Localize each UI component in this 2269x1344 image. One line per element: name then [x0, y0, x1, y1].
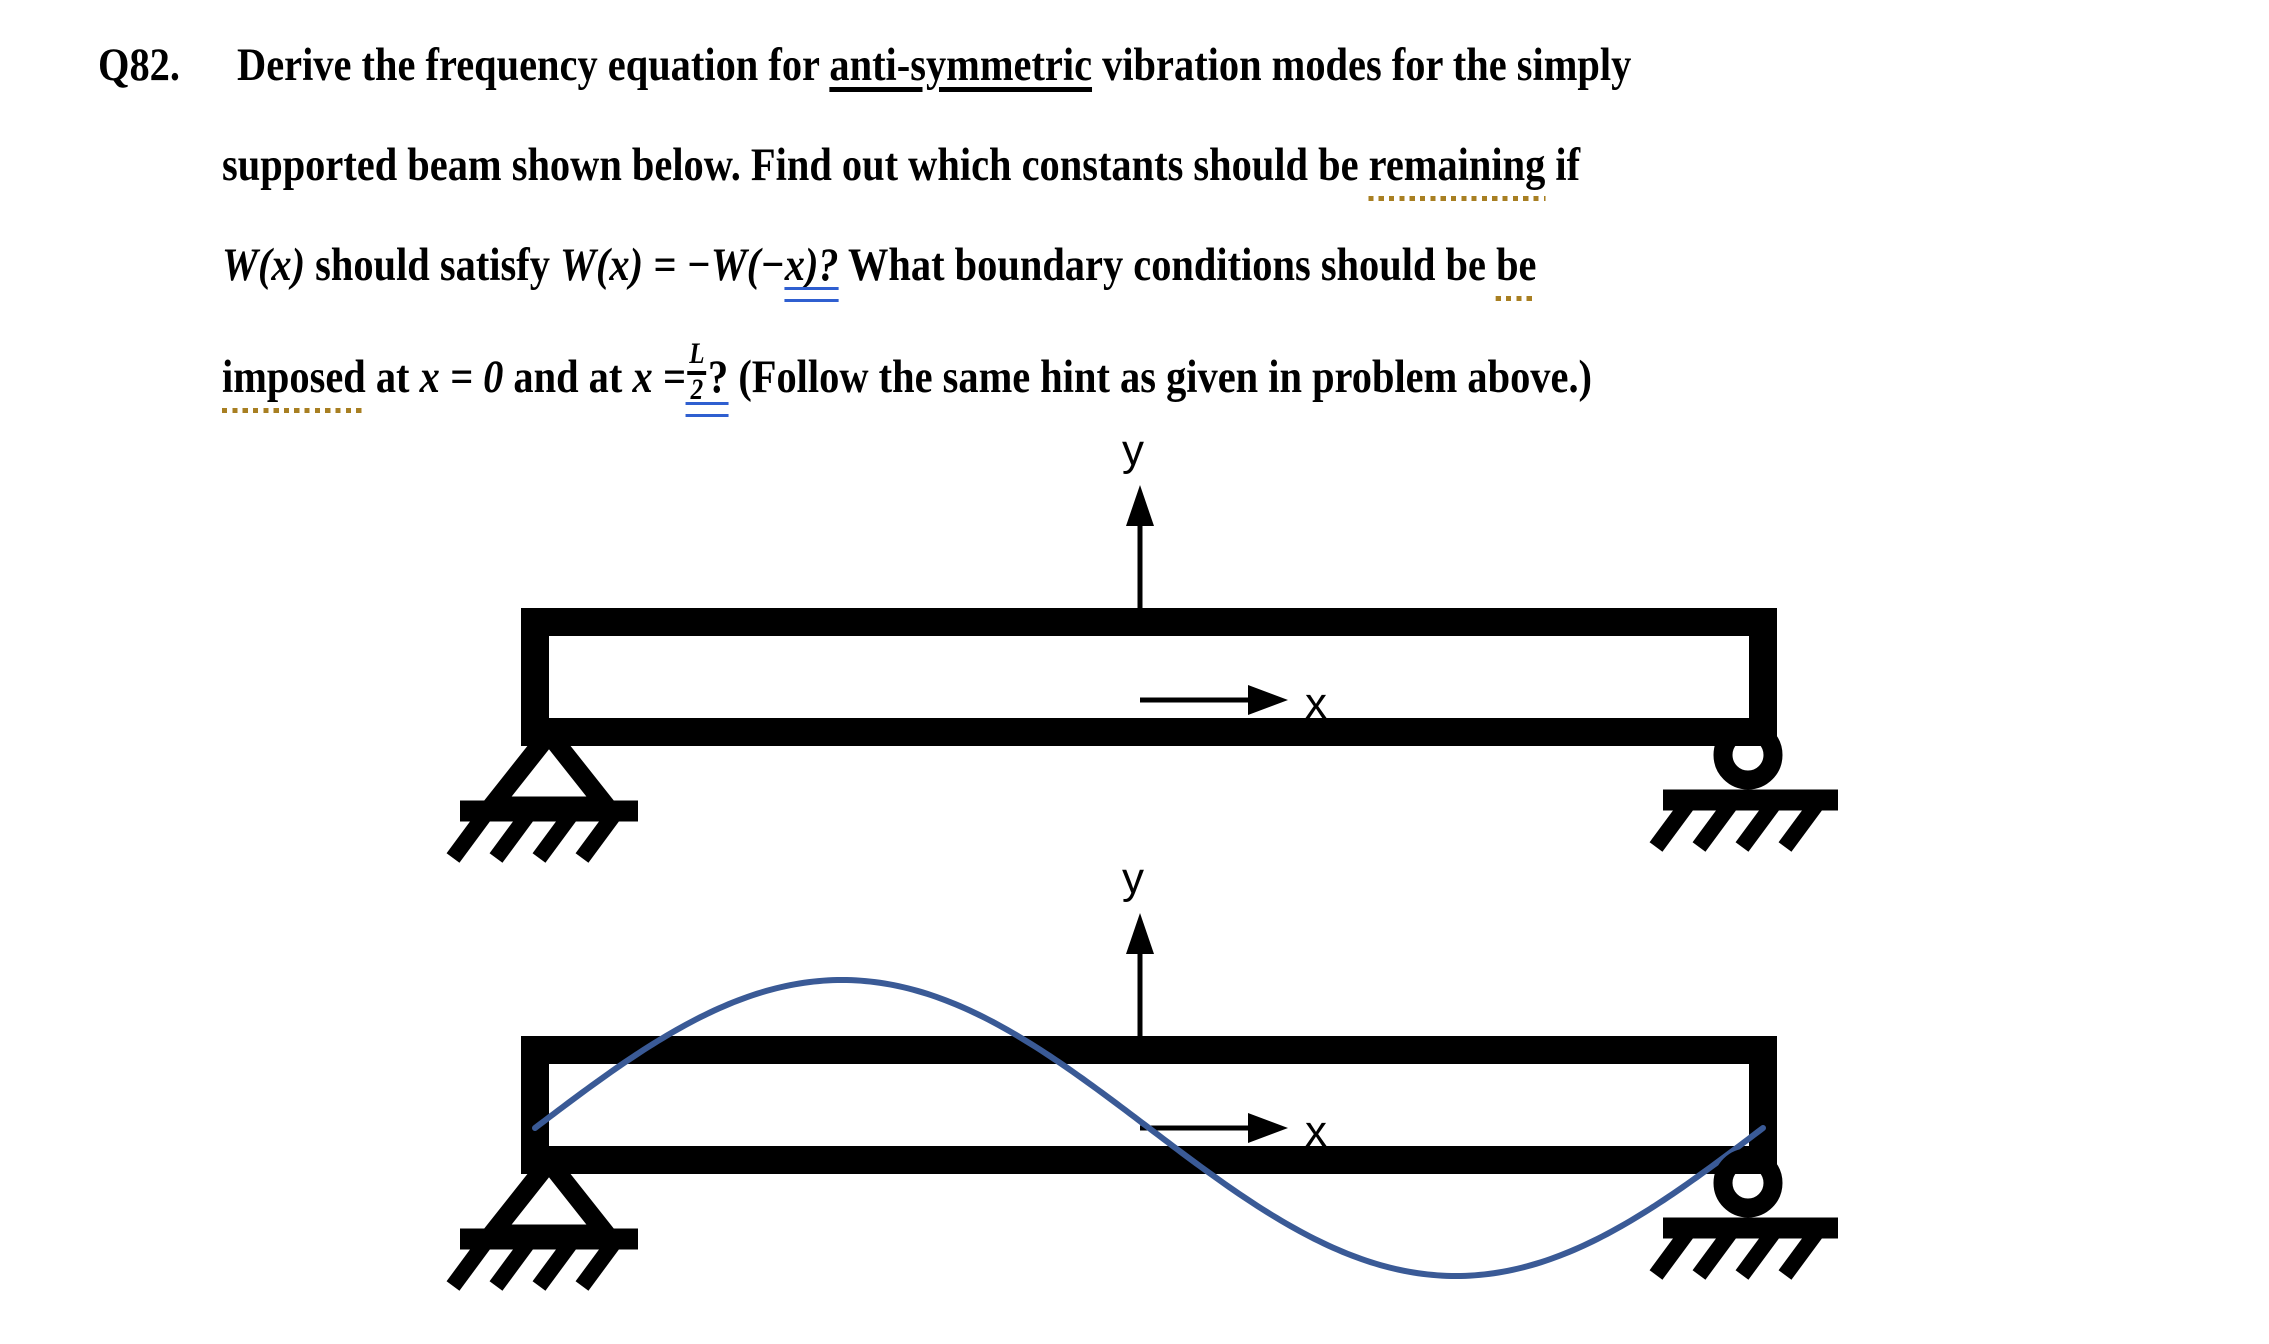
y-axis-label-2: y	[1122, 854, 1144, 903]
question-line-4: imposed at x = 0 and at x =L2? (Follow t…	[222, 342, 1592, 407]
fraction-question-mark: ?	[708, 351, 728, 403]
line4-mid2: and at	[503, 351, 632, 403]
beam-outline-1	[535, 622, 1763, 732]
spellcheck-term-remaining: remaining	[1369, 138, 1546, 192]
pin-hatching-2	[453, 1244, 613, 1286]
question-line-3: W(x) should satisfy W(x) = −W(−x)? What …	[222, 238, 1536, 292]
math-x-equals: x =	[632, 351, 685, 403]
line3-after: What boundary conditions should be	[839, 239, 1496, 291]
question-text-block: Q82. Derive the frequency equation for a…	[0, 0, 2269, 440]
spellcheck-term-imposed: imposed	[222, 350, 366, 404]
line1-after: vibration modes for the simply	[1092, 39, 1631, 91]
roller-hatching-2	[1656, 1233, 1816, 1275]
grammar-flagged-fraction: L2?	[686, 342, 728, 407]
line1-before: Derive the frequency equation for	[237, 39, 829, 91]
spellcheck-term-be: be	[1496, 238, 1536, 292]
x-axis-1	[1140, 685, 1288, 715]
roller-support-right-2	[1656, 1158, 1838, 1275]
fraction-denominator: 2	[688, 376, 707, 406]
roller-circle-1	[1723, 730, 1773, 780]
y-axis-arrowhead-1	[1126, 485, 1154, 526]
line4-mid1: at	[366, 351, 420, 403]
figure-beam-undeformed: y x	[453, 430, 1838, 858]
x-axis-arrowhead-1	[1248, 685, 1288, 715]
x-axis-arrowhead-2	[1248, 1113, 1288, 1143]
grammar-flagged-expression: x)?	[785, 238, 839, 292]
beam-diagrams: y x	[0, 430, 2269, 1344]
beam-figures-svg: y x	[0, 430, 2269, 1344]
line2-before: supported beam shown below. Find out whi…	[222, 139, 1369, 191]
x-axis-label-2: x	[1305, 1107, 1327, 1156]
pin-hatching-1	[453, 816, 613, 858]
line3-mid: should satisfy	[305, 239, 560, 291]
pin-support-left-1	[453, 734, 638, 858]
anti-symmetric-underlined-term: anti-symmetric	[829, 39, 1092, 91]
beam-outline-2	[535, 1050, 1763, 1160]
fraction-l-over-2: L2	[688, 340, 707, 405]
roller-support-right-1	[1656, 730, 1838, 847]
pin-support-left-2	[453, 1162, 638, 1286]
question-line-2: supported beam shown below. Find out whi…	[222, 138, 1580, 192]
y-axis-label-1: y	[1122, 430, 1144, 475]
line2-after: if	[1545, 139, 1580, 191]
roller-hatching-1	[1656, 805, 1816, 847]
line4-tail: (Follow the same hint as given in proble…	[728, 351, 1592, 403]
math-x-equals-zero: x = 0	[420, 351, 504, 403]
figure-beam-antisymmetric-mode: y x	[453, 854, 1838, 1286]
y-axis-arrowhead-2	[1126, 913, 1154, 954]
math-antisymmetry-condition: W(x) = −W(−	[560, 239, 785, 291]
question-line-1: Derive the frequency equation for anti-s…	[237, 38, 1631, 92]
x-axis-label-1: x	[1305, 679, 1327, 728]
mode-shape-curve	[535, 980, 1763, 1276]
math-w-of-x: W(x)	[222, 239, 305, 291]
roller-circle-2	[1723, 1158, 1773, 1208]
fraction-numerator: L	[688, 340, 707, 370]
question-number: Q82.	[98, 38, 180, 92]
